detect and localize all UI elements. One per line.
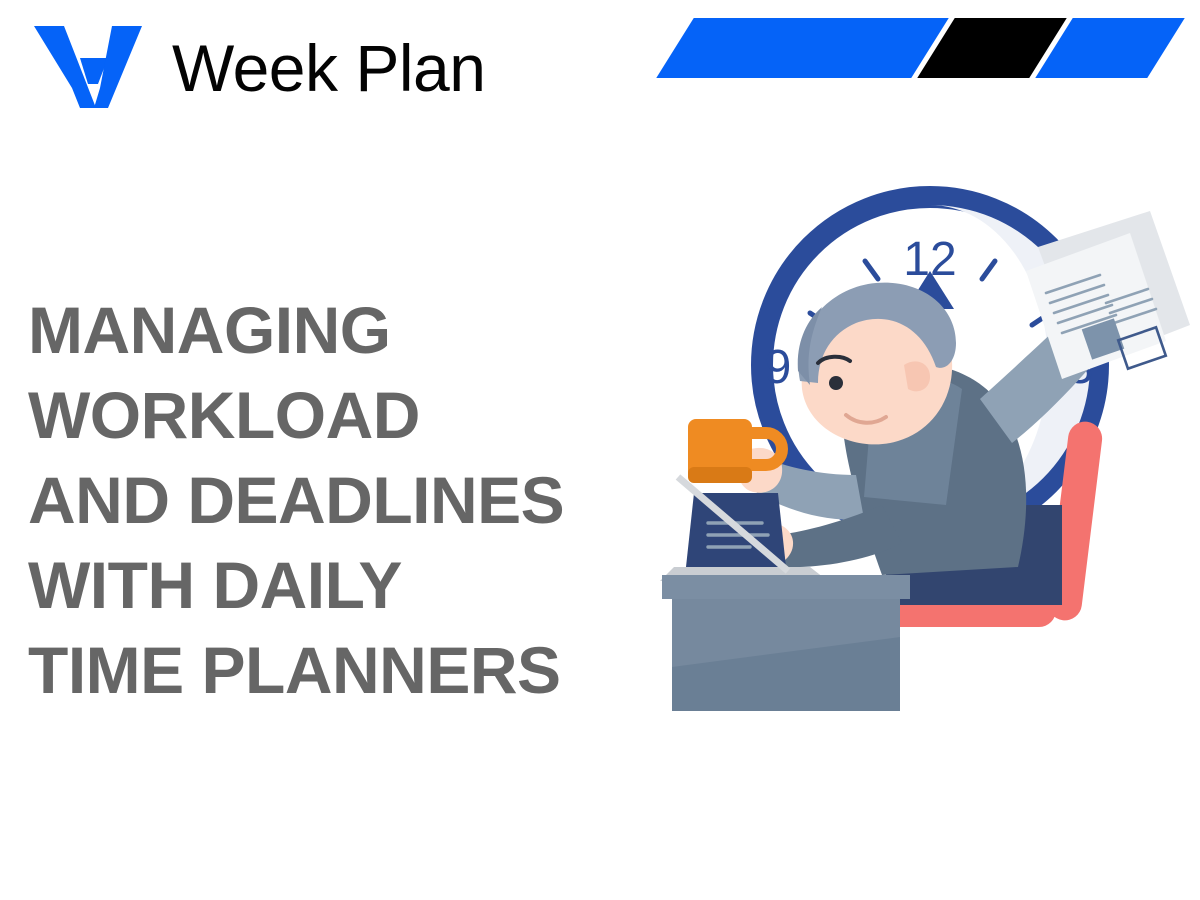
hero-illustration: 12 9 3 — [650, 175, 1200, 715]
clock-numeral-9: 9 — [765, 341, 792, 394]
desk-icon — [662, 575, 910, 711]
headline-line-2: WORKLOAD — [28, 373, 668, 458]
headline-line-4: WITH DAILY — [28, 543, 668, 628]
decor-bar-blue-1 — [656, 18, 948, 78]
eye-icon — [829, 376, 843, 390]
headline-line-3: AND DEADLINES — [28, 458, 668, 543]
blog-banner: Week Plan MANAGING WORKLOAD AND DEADLINE… — [0, 0, 1200, 900]
brand-name: Week Plan — [172, 35, 485, 101]
week-plan-w-logo-icon — [28, 22, 148, 114]
page-title: MANAGING WORKLOAD AND DEADLINES WITH DAI… — [28, 288, 668, 713]
busy-man-at-desk-illustration-icon: 12 9 3 — [650, 175, 1200, 715]
headline-line-5: TIME PLANNERS — [28, 628, 668, 713]
brand-logo[interactable]: Week Plan — [28, 22, 485, 114]
headline-line-1: MANAGING — [28, 288, 668, 373]
decor-bars-top-right — [655, 12, 1200, 102]
